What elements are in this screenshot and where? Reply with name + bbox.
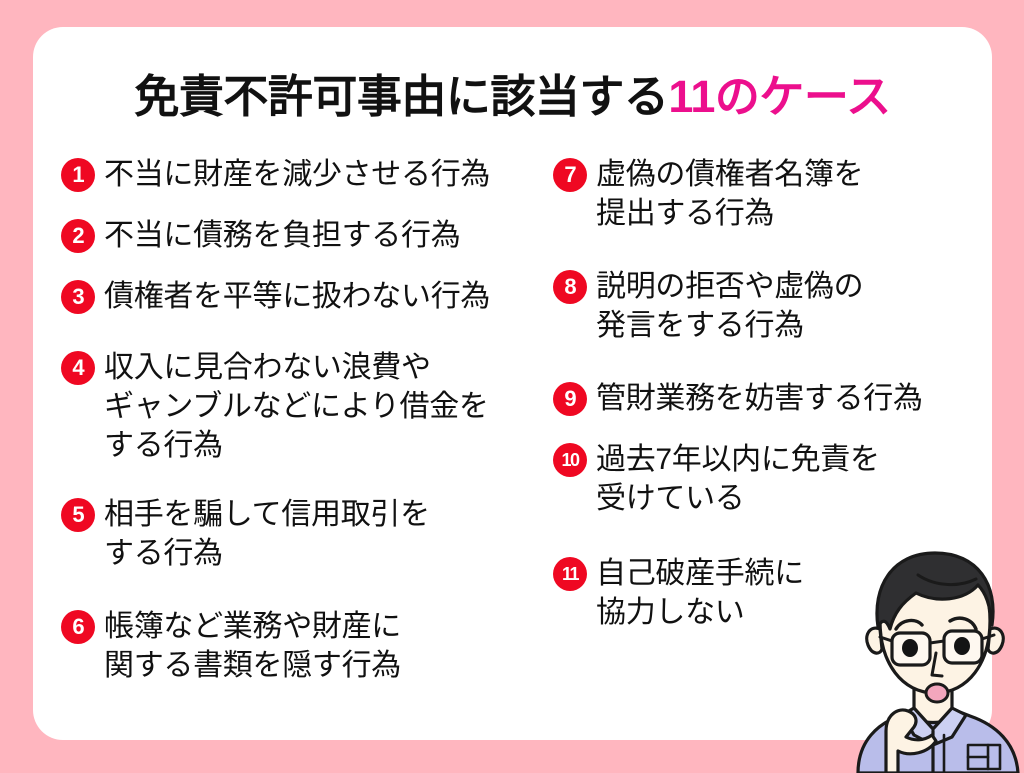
item-number-badge: 6: [61, 610, 95, 644]
list-item: 11 自己破産手続に 協力しない: [553, 554, 992, 632]
content-card: 免責不許可事由に該当する11のケース 1 不当に財産を減少させる行為 2 不当に…: [33, 27, 992, 740]
item-text: 不当に債務を負担する行為: [104, 216, 460, 255]
item-number-badge: 3: [61, 280, 95, 314]
page-title-accent: 11のケース: [668, 71, 890, 122]
item-text: 自己破産手続に 協力しない: [596, 554, 804, 632]
item-text: 帳簿など業務や財産に 関する書類を隠す行為: [104, 607, 401, 685]
item-text: 説明の拒否や虚偽の 発言をする行為: [596, 267, 863, 345]
item-text: 債権者を平等に扱わない行為: [104, 277, 490, 316]
list-column-right: 7 虚偽の債権者名簿を 提出する行為 8 説明の拒否や虚偽の 発言をする行為 9…: [553, 155, 992, 652]
page-title-main: 免責不許可事由に該当する: [134, 71, 668, 122]
item-number-badge: 5: [61, 498, 95, 532]
item-number-badge: 2: [61, 219, 95, 253]
item-number-badge: 10: [553, 443, 587, 477]
list-item: 8 説明の拒否や虚偽の 発言をする行為: [553, 267, 992, 345]
list-item: 5 相手を騙して信用取引を する行為: [61, 495, 561, 573]
list-item: 2 不当に債務を負担する行為: [61, 216, 561, 255]
item-text: 管財業務を妨害する行為: [596, 379, 923, 418]
list-column-left: 1 不当に財産を減少させる行為 2 不当に債務を負担する行為 3 債権者を平等に…: [61, 155, 561, 705]
item-text: 虚偽の債権者名簿を 提出する行為: [596, 155, 863, 233]
page-title: 免責不許可事由に該当する11のケース: [33, 72, 992, 122]
list-item: 1 不当に財産を減少させる行為: [61, 155, 561, 194]
item-number-badge: 7: [553, 158, 587, 192]
list-item: 6 帳簿など業務や財産に 関する書類を隠す行為: [61, 607, 561, 685]
list-item: 9 管財業務を妨害する行為: [553, 379, 992, 418]
item-text: 収入に見合わない浪費や ギャンブルなどにより借金を する行為: [104, 348, 489, 465]
item-number-badge: 8: [553, 270, 587, 304]
item-text: 不当に財産を減少させる行為: [104, 155, 490, 194]
item-number-badge: 11: [553, 557, 587, 591]
item-number-badge: 4: [61, 351, 95, 385]
item-text: 相手を騙して信用取引を する行為: [104, 495, 430, 573]
item-number-badge: 1: [61, 158, 95, 192]
list-item: 3 債権者を平等に扱わない行為: [61, 277, 561, 316]
list-item: 10 過去7年以内に免責を 受けている: [553, 440, 992, 518]
item-number-badge: 9: [553, 382, 587, 416]
list-item: 7 虚偽の債権者名簿を 提出する行為: [553, 155, 992, 233]
item-text: 過去7年以内に免責を 受けている: [596, 440, 880, 518]
list-item: 4 収入に見合わない浪費や ギャンブルなどにより借金を する行為: [61, 348, 561, 465]
